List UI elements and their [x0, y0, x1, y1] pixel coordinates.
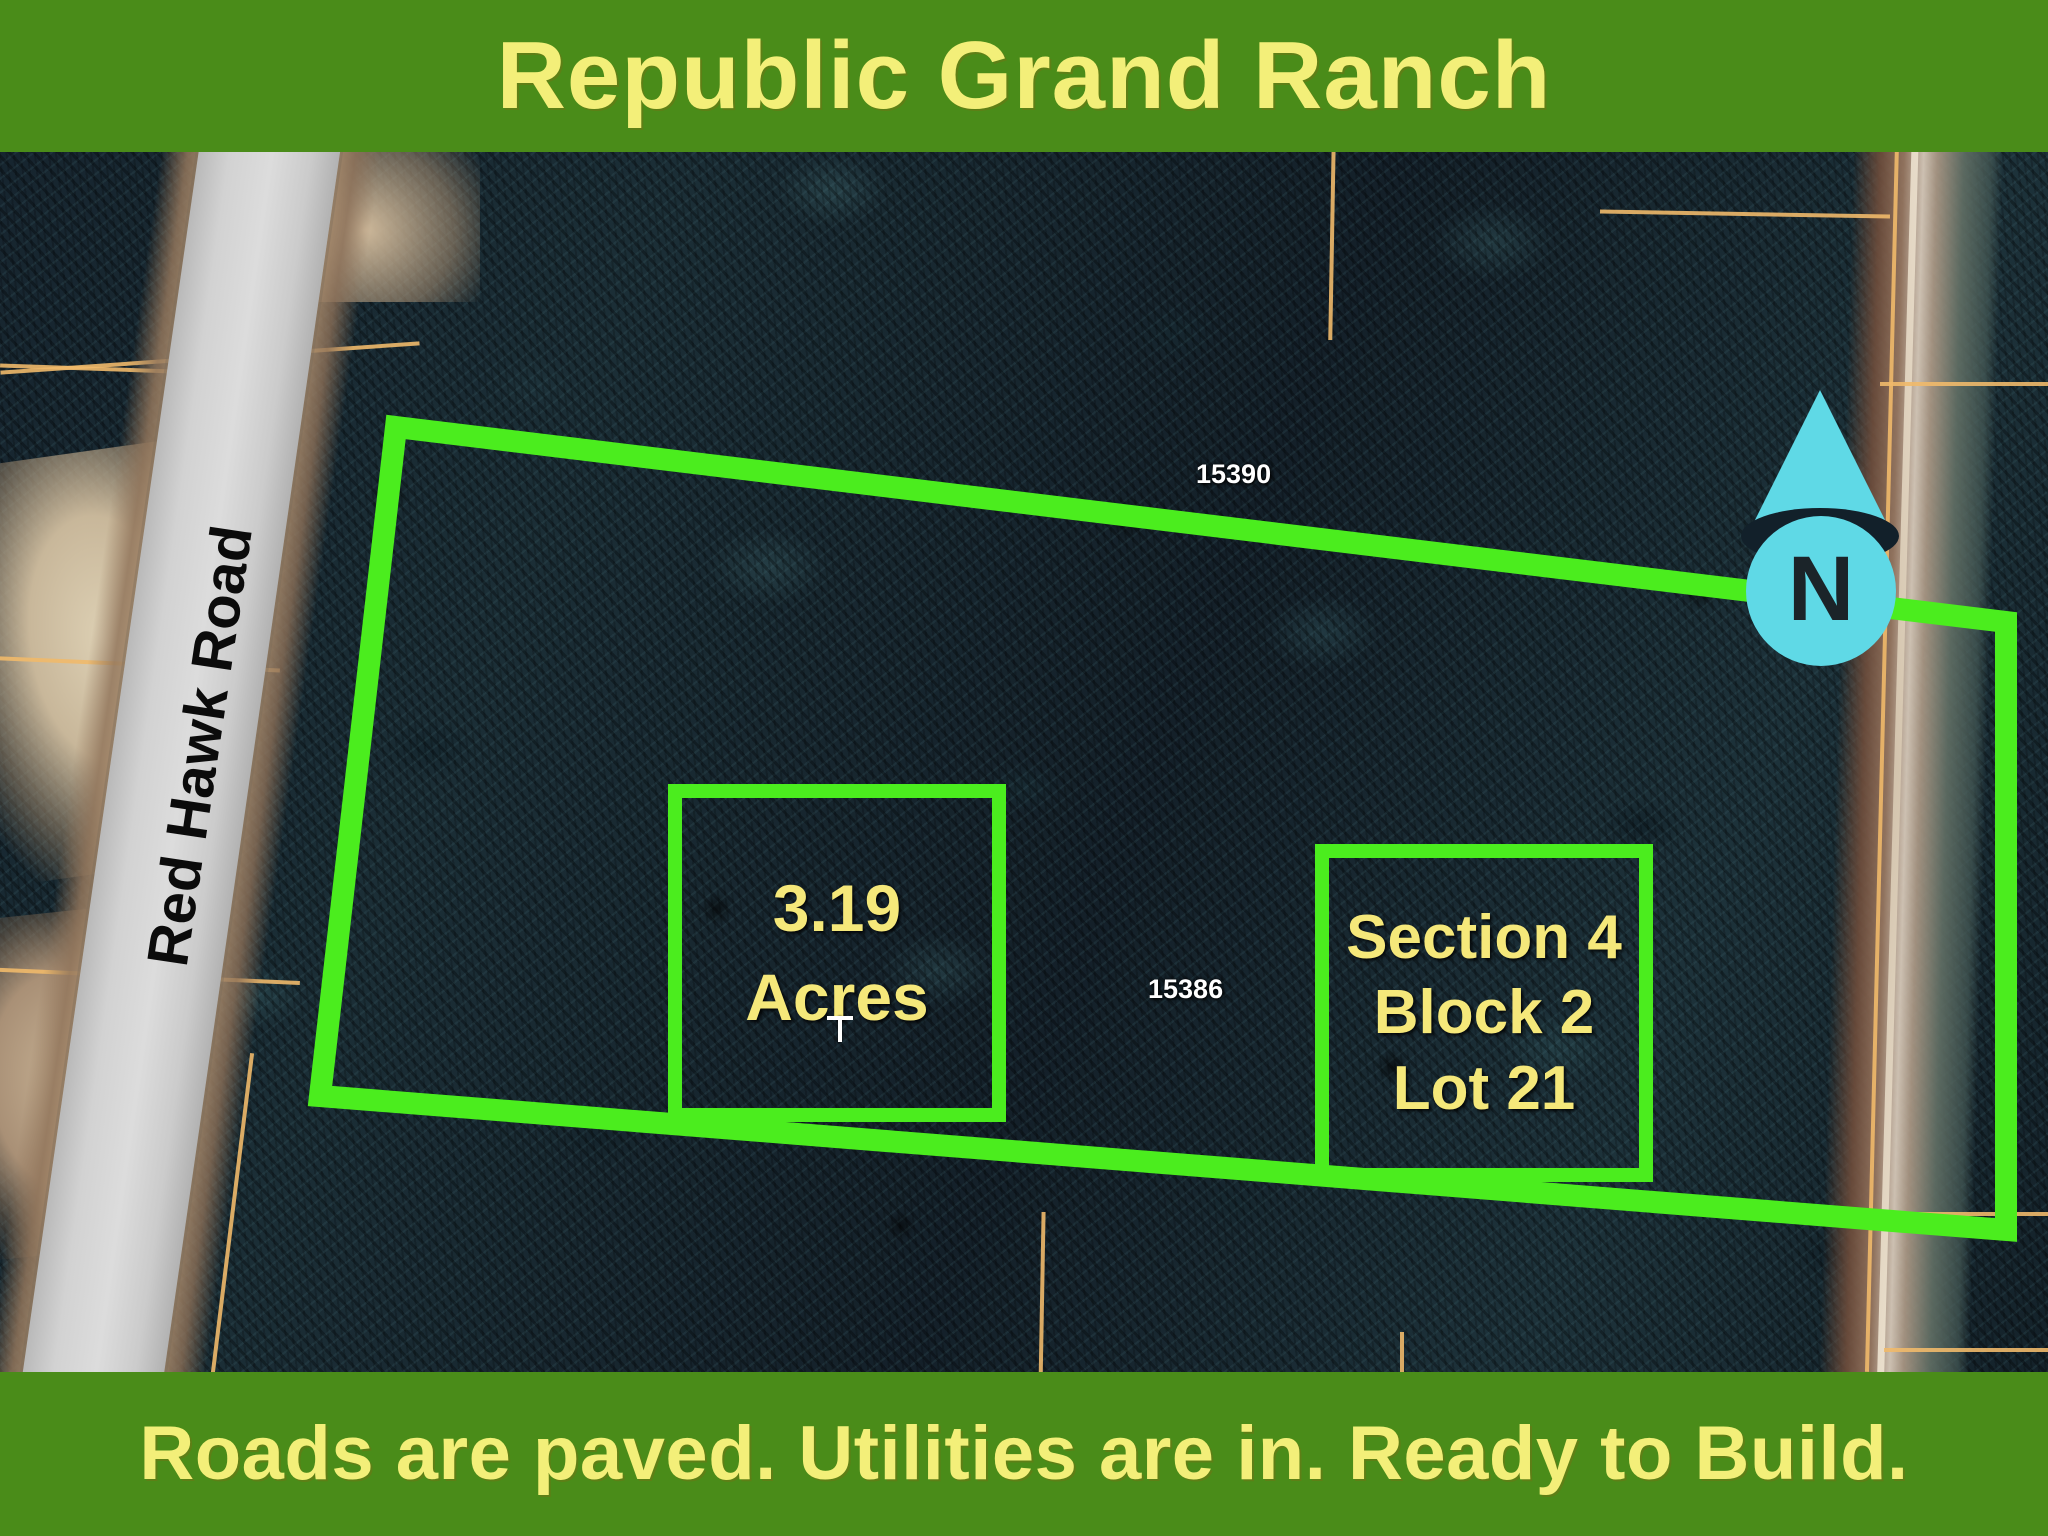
north-arrow-icon: N: [1735, 390, 1905, 680]
acreage-value: 3.19: [773, 864, 901, 953]
aerial-map: Red Hawk Road 15390 15386 3.19 Acres Sec…: [0, 152, 2048, 1372]
section-label: Section 4: [1346, 900, 1622, 976]
parcel-number-label: 15386: [1148, 974, 1223, 1005]
footer-banner: Roads are paved. Utilities are in. Ready…: [0, 1372, 2048, 1536]
lot-info-callout-box: Section 4 Block 2 Lot 21: [1315, 844, 1653, 1182]
header-banner: Republic Grand Ranch: [0, 0, 2048, 152]
parcel-boundary-line: [1884, 1348, 2048, 1352]
footer-tagline: Roads are paved. Utilities are in. Ready…: [139, 1416, 1908, 1492]
compass-circle: N: [1746, 516, 1896, 666]
parcel-boundary-line: [1400, 1332, 1404, 1372]
compass-north-letter: N: [1788, 543, 1854, 635]
listing-map-graphic: Republic Grand Ranch Red Hawk Road: [0, 0, 2048, 1536]
parcel-boundary-line: [1880, 382, 2048, 386]
crosshair-marker-icon: [838, 1016, 842, 1042]
block-label: Block 2: [1374, 975, 1595, 1051]
parcel-boundary-line: [1884, 1212, 2048, 1216]
acreage-callout-box: 3.19 Acres: [668, 784, 1006, 1122]
lot-label: Lot 21: [1393, 1051, 1576, 1127]
page-title: Republic Grand Ranch: [497, 28, 1552, 124]
acreage-unit: Acres: [745, 953, 928, 1042]
parcel-number-label: 15390: [1196, 459, 1271, 490]
